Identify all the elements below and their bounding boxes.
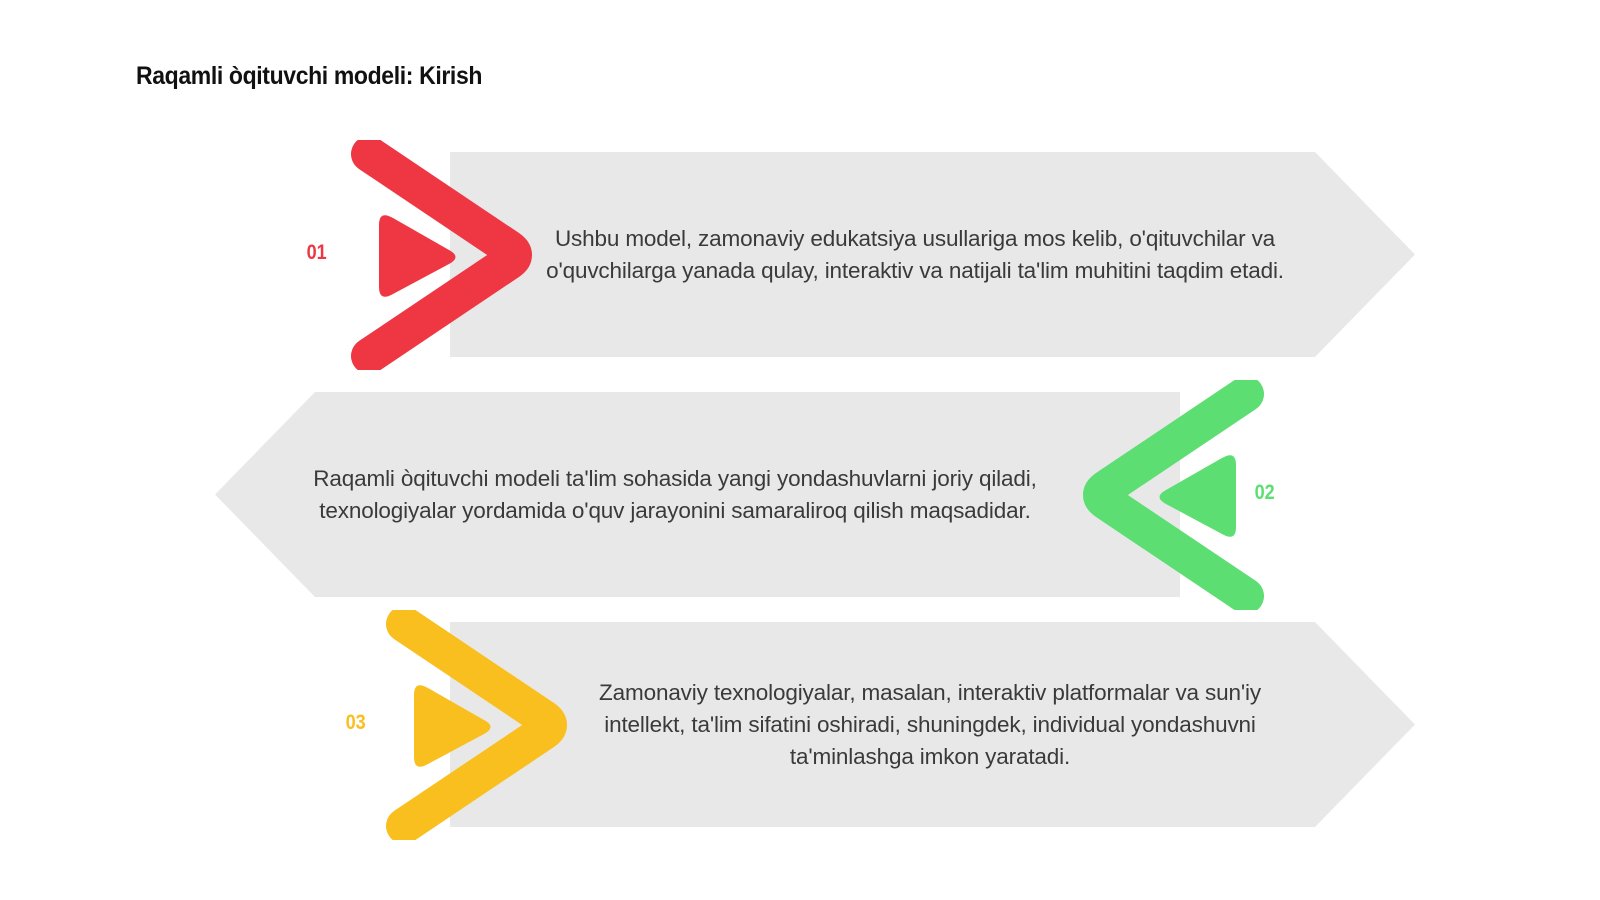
step-number-01: 01 (307, 241, 327, 265)
step-row-03: Zamonaviy texnologiyalar, masalan, inter… (0, 610, 1600, 840)
chevron-left-icon (1060, 380, 1270, 610)
step-number-02: 02 (1255, 481, 1275, 505)
slide-canvas: Raqamli òqituvchi modeli: Kirish Ushbu m… (0, 0, 1600, 900)
step-description-01: Ushbu model, zamonaviy edukatsiya usulla… (515, 223, 1315, 287)
step-number-03: 03 (346, 711, 366, 735)
step-row-02: Raqamli òqituvchi modeli ta'lim sohasida… (0, 380, 1600, 610)
step-description-03: Zamonaviy texnologiyalar, masalan, inter… (565, 677, 1295, 773)
step-row-01: Ushbu model, zamonaviy edukatsiya usulla… (0, 140, 1600, 370)
chevron-right-icon (345, 140, 555, 370)
chevron-right-icon (380, 610, 590, 840)
step-description-02: Raqamli òqituvchi modeli ta'lim sohasida… (295, 463, 1055, 527)
page-title: Raqamli òqituvchi modeli: Kirish (136, 62, 482, 91)
